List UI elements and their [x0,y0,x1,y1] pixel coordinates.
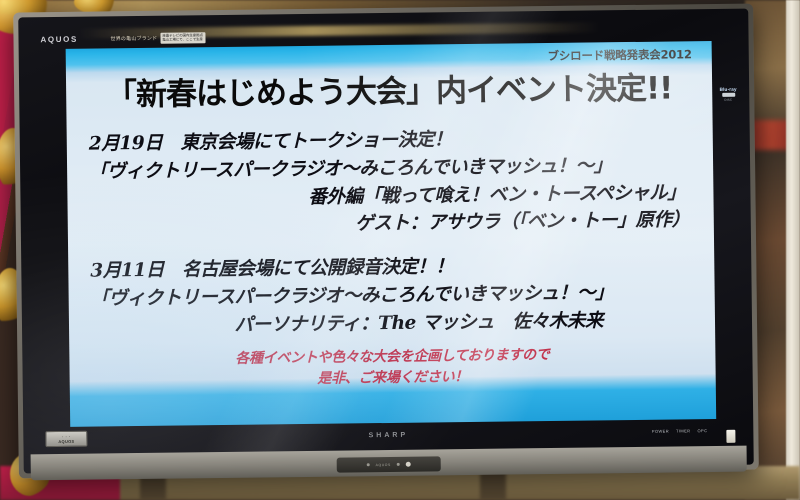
screenshot-stage: AQUOS 世界の亀山ブランド 液晶テレビの国内生産拠点 亀山工場にて、ここで生… [0,0,800,500]
event-block-february: 2月19日 東京会場にてトークショー決定！ 「ヴィクトリースパークラジオ～みころ… [81,123,700,242]
event-block-march: 3月11日 名古屋会場にて公開録音決定！！ 「ヴィクトリースパークラジオ～みころ… [82,250,701,341]
indicator-power: POWER [652,429,669,434]
bluray-label: Blu-ray [720,86,737,91]
infrared-receiver-icon [406,462,411,467]
page-title: 「新春はじめよう大会」内イベント決定!! [80,62,699,115]
sensor-panel: AQUOS [337,456,441,472]
background-right-edge [786,0,800,500]
bluray-disc-icon: Blu-ray DISC [718,81,738,107]
indicator-opc: OPC [697,428,707,433]
slide-content: ブシロード戦略発表会2012 「新春はじめよう大会」内イベント決定!! 2月19… [66,41,717,427]
kameyama-label-text: 世界の亀山ブランド [110,35,157,43]
tv-screen: ブシロード戦略発表会2012 「新春はじめよう大会」内イベント決定!! 2月19… [66,41,717,427]
kameyama-label-chip: 液晶テレビの国内生産拠点 亀山工場にて、ここで生産 [160,32,205,43]
indicator-timer: TIMER [676,428,691,433]
audio-badge: ・・・ AQUOS [45,431,87,448]
kameyama-brand-label: 世界の亀山ブランド 液晶テレビの国内生産拠点 亀山工場にて、ここで生産 [110,32,205,44]
aquos-logo: AQUOS [40,35,77,44]
slide-title-text: 「新春はじめよう大会」内イベント決定!! [106,70,673,113]
power-led-indicator [726,430,735,443]
bluray-bar [722,92,735,96]
footer-note: 各種イベントや色々な大会を企画しておりますので 是非、ご来場ください！ [83,343,701,391]
sensor-panel-text: AQUOS [376,462,391,466]
sensor-dot-icon [367,463,370,466]
tv-bezel: AQUOS 世界の亀山ブランド 液晶テレビの国内生産拠点 亀山工場にて、ここで生… [18,9,754,474]
audio-badge-line2: AQUOS [58,438,74,443]
sharp-logo: SHARP [369,432,409,439]
sensor-dot-icon [397,463,400,466]
indicator-row: POWER TIMER OPC [652,428,708,434]
television: AQUOS 世界の亀山ブランド 液晶テレビの国内生産拠点 亀山工場にて、ここで生… [13,3,759,478]
bluray-sub-label: DISC [724,97,732,101]
slide-header-text: ブシロード戦略発表会2012 [547,47,691,63]
